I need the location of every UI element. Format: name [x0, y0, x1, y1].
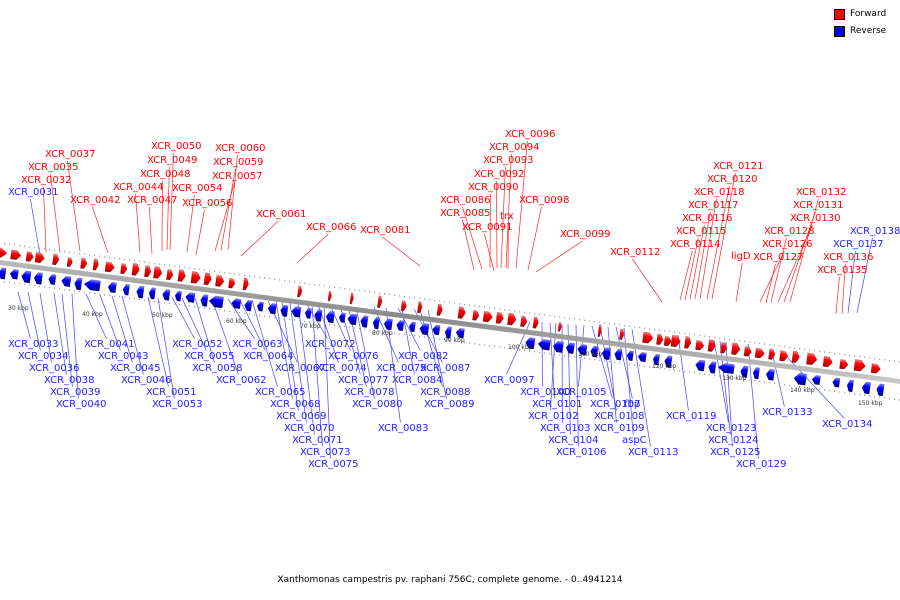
gene-label[interactable]: XCR_0048	[140, 170, 191, 180]
axis-minor-tick	[289, 281, 290, 282]
scale-tick-label: 100 kbp	[508, 344, 532, 351]
gene-label[interactable]: XCR_0134	[822, 420, 873, 430]
axis-minor-tick	[344, 326, 345, 327]
axis-minor-tick	[399, 333, 400, 334]
gene-label[interactable]: XCR_0075	[308, 460, 359, 470]
axis-minor-tick	[784, 384, 785, 385]
axis-minor-tick	[399, 295, 400, 296]
axis-minor-tick	[594, 321, 595, 322]
axis-minor-tick	[809, 349, 810, 350]
scale-tick-label: 140 kbp	[790, 387, 814, 394]
axis-minor-tick	[474, 305, 475, 306]
gene-label[interactable]: ligD	[731, 252, 751, 262]
red-square-icon	[834, 9, 845, 20]
axis-minor-tick	[504, 309, 505, 310]
gene-label[interactable]: XCR_0061	[256, 210, 307, 220]
axis-minor-tick	[679, 370, 680, 371]
scale-tick-label: 50 kbp	[152, 312, 173, 319]
gene-arrow	[0, 247, 8, 258]
gene-label[interactable]: XCR_0045	[110, 364, 161, 374]
gene-label[interactable]: XCR_0040	[56, 400, 107, 410]
axis-minor-tick	[509, 310, 510, 311]
label-leader-line	[766, 264, 775, 303]
axis-minor-tick	[409, 335, 410, 336]
axis-minor-tick	[34, 247, 35, 248]
legend-label-forward: Forward	[850, 9, 886, 20]
gene-arrow	[765, 369, 774, 381]
axis-minor-tick	[554, 316, 555, 317]
axis-minor-tick	[714, 337, 715, 338]
axis-minor-tick	[34, 285, 35, 286]
gene-arrow	[107, 282, 116, 293]
gene-arrow	[52, 254, 59, 265]
gene-label[interactable]: XCR_0091	[462, 223, 513, 233]
axis-minor-tick	[859, 394, 860, 395]
gene-label[interactable]: XCR_0125	[710, 448, 761, 458]
gene-label[interactable]: XCR_0063	[232, 340, 283, 350]
axis-minor-tick	[469, 305, 470, 306]
gene-label[interactable]: XCR_0128	[764, 227, 815, 237]
axis-minor-tick	[779, 383, 780, 384]
gene-label[interactable]: XCR_0036	[29, 364, 80, 374]
axis-minor-tick	[329, 324, 330, 325]
gene-arrow	[383, 318, 392, 330]
gene-arrow	[626, 350, 633, 360]
axis-minor-tick	[194, 306, 195, 307]
label-leader-line	[632, 259, 662, 302]
axis-minor-tick	[104, 294, 105, 295]
axis-minor-tick	[164, 302, 165, 303]
gene-arrow	[861, 382, 870, 395]
gene-label[interactable]: XCR_0120	[707, 175, 758, 185]
axis-minor-tick	[309, 283, 310, 284]
gene-label[interactable]: XCR_0043	[98, 352, 149, 362]
gene-arrow	[228, 278, 235, 288]
scale-tick-label: 70 kbp	[300, 323, 321, 330]
axis-minor-tick	[504, 347, 505, 348]
gene-arrow	[520, 316, 527, 327]
axis-minor-tick	[59, 288, 60, 289]
gene-label[interactable]: XCR_0053	[152, 400, 203, 410]
axis-minor-tick	[254, 314, 255, 315]
gene-label[interactable]: XCR_0057	[212, 172, 263, 182]
gene-label[interactable]: XCR_0047	[127, 196, 178, 206]
gene-label[interactable]: XCR_0051	[146, 388, 197, 398]
axis-minor-tick	[539, 314, 540, 315]
gene-label[interactable]: XCR_0127	[753, 253, 804, 263]
gene-arrow	[533, 317, 539, 329]
gene-arrow	[731, 343, 740, 356]
gene-label[interactable]: XCR_0138	[850, 227, 900, 237]
gene-label[interactable]: XCR_0039	[50, 388, 101, 398]
gene-label[interactable]: XCR_0070	[284, 424, 335, 434]
gene-label[interactable]: fbp	[624, 400, 640, 410]
gene-arrow	[752, 367, 759, 379]
axis-minor-tick	[499, 346, 500, 347]
axis-minor-tick	[619, 362, 620, 363]
gene-arrow	[132, 263, 140, 276]
gene-arrow	[33, 272, 42, 284]
gene-arrow	[153, 266, 162, 278]
axis-minor-tick	[294, 281, 295, 282]
axis-minor-tick	[339, 287, 340, 288]
axis-minor-tick	[569, 318, 570, 319]
gene-label[interactable]: XCR_0124	[708, 436, 759, 446]
gene-label[interactable]: XCR_0071	[292, 436, 343, 446]
axis-minor-tick	[564, 355, 565, 356]
gene-label[interactable]: XCR_0099	[560, 230, 611, 240]
gene-arrow	[458, 307, 466, 319]
axis-minor-tick	[704, 374, 705, 375]
axis-minor-tick	[229, 311, 230, 312]
gene-label[interactable]: XCR_0103	[540, 424, 591, 434]
label-leader-line	[536, 241, 582, 272]
axis-minor-tick	[624, 325, 625, 326]
axis-minor-tick	[719, 338, 720, 339]
axis-minor-tick	[274, 279, 275, 280]
axis-minor-tick	[534, 313, 535, 314]
gene-label[interactable]: XCR_0105	[556, 388, 607, 398]
axis-minor-tick	[549, 315, 550, 316]
gene-label[interactable]: XCR_0055	[184, 352, 235, 362]
gene-label[interactable]: aspC	[622, 436, 647, 446]
axis-minor-tick	[314, 284, 315, 285]
gene-label[interactable]: XCR_0033	[8, 340, 59, 350]
gene-label[interactable]: XCR_0042	[70, 196, 121, 206]
gene-label[interactable]: XCR_0109	[594, 424, 645, 434]
axis-minor-tick	[64, 289, 65, 290]
gene-label[interactable]: XCR_0065	[255, 388, 306, 398]
gene-arrow	[174, 291, 181, 302]
gene-label[interactable]: XCR_0136	[823, 253, 874, 263]
axis-minor-tick	[94, 293, 95, 294]
gene-arrow	[401, 301, 407, 312]
gene-label[interactable]: XCR_0113	[628, 448, 679, 458]
gene-label[interactable]: XCR_0078	[344, 388, 395, 398]
axis-minor-tick	[519, 311, 520, 312]
axis-minor-tick	[334, 287, 335, 288]
axis-minor-tick	[874, 396, 875, 397]
gene-label[interactable]: XCR_0035	[28, 163, 79, 173]
gene-arrow	[695, 340, 704, 350]
axis-minor-tick	[674, 332, 675, 333]
axis-minor-tick	[499, 308, 500, 309]
gene-label[interactable]: XCR_0056	[182, 199, 233, 209]
axis-minor-tick	[759, 381, 760, 382]
axis-minor-tick	[434, 338, 435, 339]
gene-label[interactable]: XCR_0131	[793, 201, 844, 211]
axis-minor-tick	[414, 335, 415, 336]
gene-label[interactable]: XCR_0126	[762, 240, 813, 250]
axis-minor-tick	[159, 302, 160, 303]
gene-label[interactable]: XCR_0049	[147, 156, 198, 166]
axis-minor-tick	[694, 334, 695, 335]
gene-label[interactable]: XCR_0060	[215, 144, 266, 154]
gene-arrow	[267, 303, 276, 314]
axis-minor-tick	[694, 372, 695, 373]
axis-minor-tick	[279, 279, 280, 280]
axis-minor-tick	[699, 335, 700, 336]
gene-label[interactable]: XCR_0092	[474, 170, 525, 180]
gene-label[interactable]: XCR_0038	[44, 376, 95, 386]
gene-label[interactable]: XCR_0059	[213, 158, 264, 168]
axis-minor-tick	[864, 357, 865, 358]
gene-arrow	[256, 302, 263, 312]
axis-minor-tick	[74, 290, 75, 291]
gene-label[interactable]: XCR_0090	[468, 183, 519, 193]
axis-minor-tick	[544, 352, 545, 353]
gene-label[interactable]: XCR_0116	[682, 214, 733, 224]
gene-label[interactable]: XCR_0118	[694, 188, 745, 198]
gene-label[interactable]: XCR_0052	[172, 340, 223, 350]
axis-minor-tick	[439, 339, 440, 340]
axis-minor-tick	[139, 261, 140, 262]
gene-arrow	[83, 279, 100, 291]
axis-minor-tick	[649, 328, 650, 329]
gene-label[interactable]: XCR_0054	[172, 184, 223, 194]
axis-minor-tick	[154, 301, 155, 302]
axis-minor-tick	[289, 319, 290, 320]
axis-minor-tick	[189, 306, 190, 307]
gene-label[interactable]: XCR_0101	[532, 400, 583, 410]
axis-minor-tick	[364, 329, 365, 330]
axis-minor-tick	[4, 281, 5, 282]
axis-minor-tick	[49, 249, 50, 250]
gene-label[interactable]: XCR_0041	[84, 340, 135, 350]
axis-minor-tick	[194, 268, 195, 269]
gene-label[interactable]: XCR_0073	[300, 448, 351, 458]
axis-minor-tick	[879, 397, 880, 398]
axis-minor-tick	[294, 319, 295, 320]
axis-minor-tick	[89, 292, 90, 293]
axis-minor-tick	[724, 338, 725, 339]
gene-label[interactable]: XCR_0097	[484, 376, 535, 386]
gene-arrow	[338, 312, 345, 322]
gene-label[interactable]: XCR_0044	[113, 183, 164, 193]
gene-label[interactable]: XCR_0031	[8, 188, 59, 198]
gene-label[interactable]: XCR_0135	[817, 266, 868, 276]
axis-minor-tick	[669, 331, 670, 332]
axis-minor-tick	[79, 253, 80, 254]
axis-minor-tick	[589, 320, 590, 321]
gene-arrow	[871, 363, 881, 373]
axis-minor-tick	[109, 295, 110, 296]
gene-label[interactable]: XCR_0117	[688, 201, 739, 211]
axis-minor-tick	[349, 327, 350, 328]
gene-label[interactable]: XCR_0032	[21, 176, 72, 186]
axis-minor-tick	[349, 289, 350, 290]
axis-minor-tick	[244, 275, 245, 276]
gene-arrow	[215, 275, 224, 287]
gene-label[interactable]: XCR_0088	[420, 388, 471, 398]
gene-arrow	[347, 314, 357, 325]
gene-label[interactable]: XCR_0104	[548, 436, 599, 446]
axis-minor-tick	[659, 330, 660, 331]
axis-minor-tick	[859, 356, 860, 357]
gene-label[interactable]: XCR_0123	[706, 424, 757, 434]
gene-label[interactable]: XCR_0089	[424, 400, 475, 410]
gene-label[interactable]: XCR_0037	[45, 150, 96, 160]
axis-minor-tick	[394, 295, 395, 296]
gene-arrow	[614, 349, 622, 360]
axis-minor-tick	[369, 329, 370, 330]
axis-minor-tick	[189, 268, 190, 269]
gene-label[interactable]: XCR_0034	[18, 352, 69, 362]
label-leader-line	[298, 234, 328, 262]
gene-label[interactable]: XCR_0062	[216, 376, 267, 386]
gene-label[interactable]: XCR_0121	[713, 162, 764, 172]
gene-arrow	[144, 266, 151, 278]
axis-minor-tick	[69, 252, 70, 253]
axis-minor-tick	[404, 334, 405, 335]
axis-minor-tick	[199, 307, 200, 308]
gene-label[interactable]: XCR_0115	[676, 227, 727, 237]
axis-minor-tick	[849, 355, 850, 356]
axis-minor-tick	[9, 244, 10, 245]
gene-label[interactable]: XCR_0072	[305, 340, 356, 350]
axis-minor-tick	[339, 325, 340, 326]
gene-arrow	[304, 308, 311, 319]
gene-label[interactable]: XCR_0084	[392, 376, 443, 386]
axis-minor-tick	[114, 296, 115, 297]
axis-minor-tick	[384, 293, 385, 294]
gene-label[interactable]: XCR_0050	[151, 142, 202, 152]
axis-minor-tick	[634, 326, 635, 327]
axis-minor-tick	[24, 284, 25, 285]
axis-minor-tick	[569, 356, 570, 357]
gene-label[interactable]: XCR_0119	[666, 412, 717, 422]
axis-minor-tick	[379, 293, 380, 294]
axis-minor-tick	[679, 332, 680, 333]
blue-square-icon	[834, 26, 845, 37]
axis-minor-tick	[489, 307, 490, 308]
axis-minor-tick	[894, 399, 895, 400]
axis-minor-tick	[269, 316, 270, 317]
gene-arrow	[120, 263, 127, 274]
axis-minor-tick	[614, 362, 615, 363]
gene-label[interactable]: XCR_0064	[243, 352, 294, 362]
gene-label[interactable]: XCR_0077	[338, 376, 389, 386]
axis-minor-tick	[719, 376, 720, 377]
gene-label[interactable]: XCR_0081	[360, 226, 411, 236]
axis-minor-tick	[549, 353, 550, 354]
gene-label[interactable]: XCR_0079	[376, 364, 427, 374]
axis-minor-tick	[334, 325, 335, 326]
gene-label[interactable]: XCR_0108	[594, 412, 645, 422]
gene-label[interactable]: XCR_0137	[833, 240, 884, 250]
axis-minor-tick	[564, 317, 565, 318]
gene-label[interactable]: XCR_0098	[519, 196, 570, 206]
gene-label[interactable]: XCR_0083	[378, 424, 429, 434]
axis-minor-tick	[214, 271, 215, 272]
gene-arrow	[148, 287, 155, 299]
gene-label[interactable]: trx	[500, 212, 514, 222]
gene-label[interactable]: XCR_0106	[556, 448, 607, 458]
gene-arrow	[61, 276, 71, 287]
gene-label[interactable]: XCR_0085	[440, 209, 491, 219]
gene-arrow	[437, 304, 443, 316]
axis-minor-tick	[619, 324, 620, 325]
gene-arrow	[811, 375, 820, 385]
axis-minor-tick	[119, 296, 120, 297]
scale-tick-label: 90 kbp	[444, 337, 465, 344]
gene-label[interactable]: XCR_0074	[316, 364, 367, 374]
gene-label[interactable]: XCR_0068	[270, 400, 321, 410]
axis-minor-tick	[144, 262, 145, 263]
gene-label[interactable]: XCR_0129	[736, 460, 787, 470]
axis-minor-tick	[59, 250, 60, 251]
gene-label[interactable]: XCR_0066	[306, 223, 357, 233]
axis-minor-tick	[814, 350, 815, 351]
axis-minor-tick	[709, 336, 710, 337]
gene-arrow	[496, 312, 504, 324]
label-leader-line	[196, 210, 204, 255]
gene-label[interactable]: XCR_0093	[483, 156, 534, 166]
axis-minor-tick	[209, 270, 210, 271]
gene-arrow	[768, 349, 775, 360]
gene-label[interactable]: XCR_0102	[528, 412, 579, 422]
axis-minor-tick	[409, 297, 410, 298]
axis-minor-tick	[39, 286, 40, 287]
gene-label[interactable]: XCR_0076	[328, 352, 379, 362]
gene-label[interactable]: XCR_0132	[796, 188, 847, 198]
gene-label[interactable]: XCR_0096	[505, 130, 556, 140]
axis-minor-tick	[629, 326, 630, 327]
axis-minor-tick	[824, 389, 825, 390]
gene-label[interactable]: XCR_0130	[790, 214, 841, 224]
axis-minor-tick	[654, 329, 655, 330]
axis-minor-tick	[764, 381, 765, 382]
axis-minor-tick	[864, 395, 865, 396]
gene-label[interactable]: XCR_0133	[762, 408, 813, 418]
gene-arrow	[200, 294, 208, 307]
gene-arrow	[684, 336, 691, 348]
gene-label[interactable]: XCR_0046	[121, 376, 172, 386]
axis-minor-tick	[234, 311, 235, 312]
gene-label[interactable]: XCR_0114	[670, 240, 721, 250]
axis-minor-tick	[894, 361, 895, 362]
gene-label[interactable]: XCR_0082	[398, 352, 449, 362]
gene-label[interactable]: XCR_0086	[440, 196, 491, 206]
gene-label[interactable]: XCR_0069	[276, 412, 327, 422]
axis-minor-tick	[109, 257, 110, 258]
gene-label[interactable]: XCR_0058	[192, 364, 243, 374]
axis-minor-tick	[689, 334, 690, 335]
axis-minor-tick	[609, 323, 610, 324]
axis-minor-tick	[269, 278, 270, 279]
axis-minor-tick	[784, 346, 785, 347]
axis-minor-tick	[854, 393, 855, 394]
axis-minor-tick	[779, 345, 780, 346]
axis-minor-tick	[354, 327, 355, 328]
gene-arrow	[9, 269, 18, 279]
gene-label[interactable]: XCR_0094	[489, 143, 540, 153]
axis-minor-tick	[219, 309, 220, 310]
gene-arrow	[695, 359, 705, 371]
gene-arrow	[26, 252, 34, 262]
axis-minor-tick	[729, 339, 730, 340]
gene-label[interactable]: XCR_0080	[352, 400, 403, 410]
scale-tick-label: 60 kbp	[226, 318, 247, 325]
axis-minor-tick	[174, 266, 175, 267]
axis-minor-tick	[4, 243, 5, 244]
gene-label[interactable]: XCR_0112	[610, 248, 661, 258]
gene-arrow	[93, 259, 99, 271]
label-leader-line	[241, 221, 278, 256]
gene-label[interactable]: XCR_0087	[420, 364, 471, 374]
scale-tick-label: 110 kbp	[578, 351, 602, 358]
axis-minor-tick	[734, 340, 735, 341]
